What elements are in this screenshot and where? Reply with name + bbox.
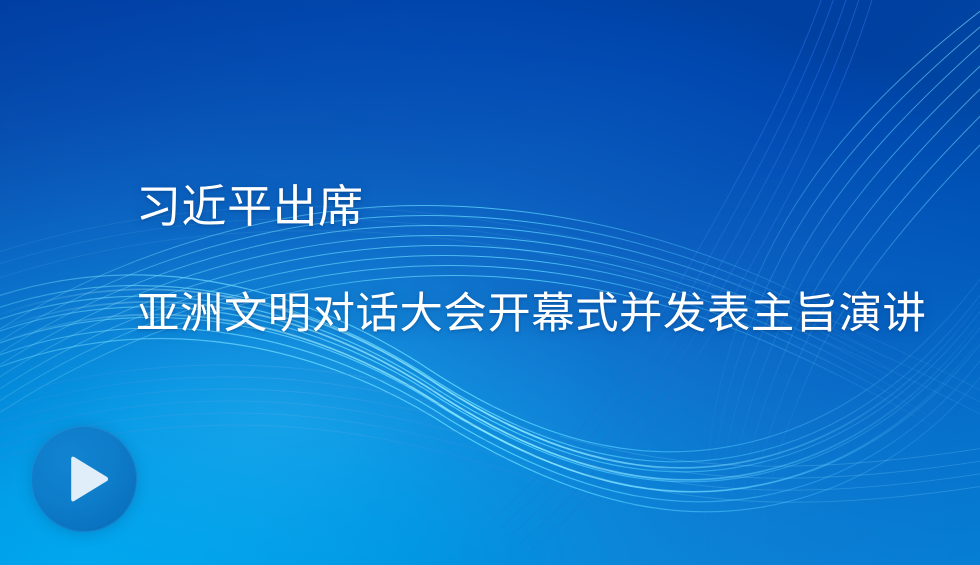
headline-line-2: 亚洲文明对话大会开幕式并发表主旨演讲	[136, 286, 936, 342]
play-button[interactable]	[31, 426, 137, 532]
headline-line-1: 习近平出席	[136, 178, 936, 236]
play-triangle-icon	[68, 456, 110, 502]
video-poster: 习近平出席 亚洲文明对话大会开幕式并发表主旨演讲	[0, 0, 980, 565]
headline: 习近平出席 亚洲文明对话大会开幕式并发表主旨演讲	[136, 178, 936, 342]
